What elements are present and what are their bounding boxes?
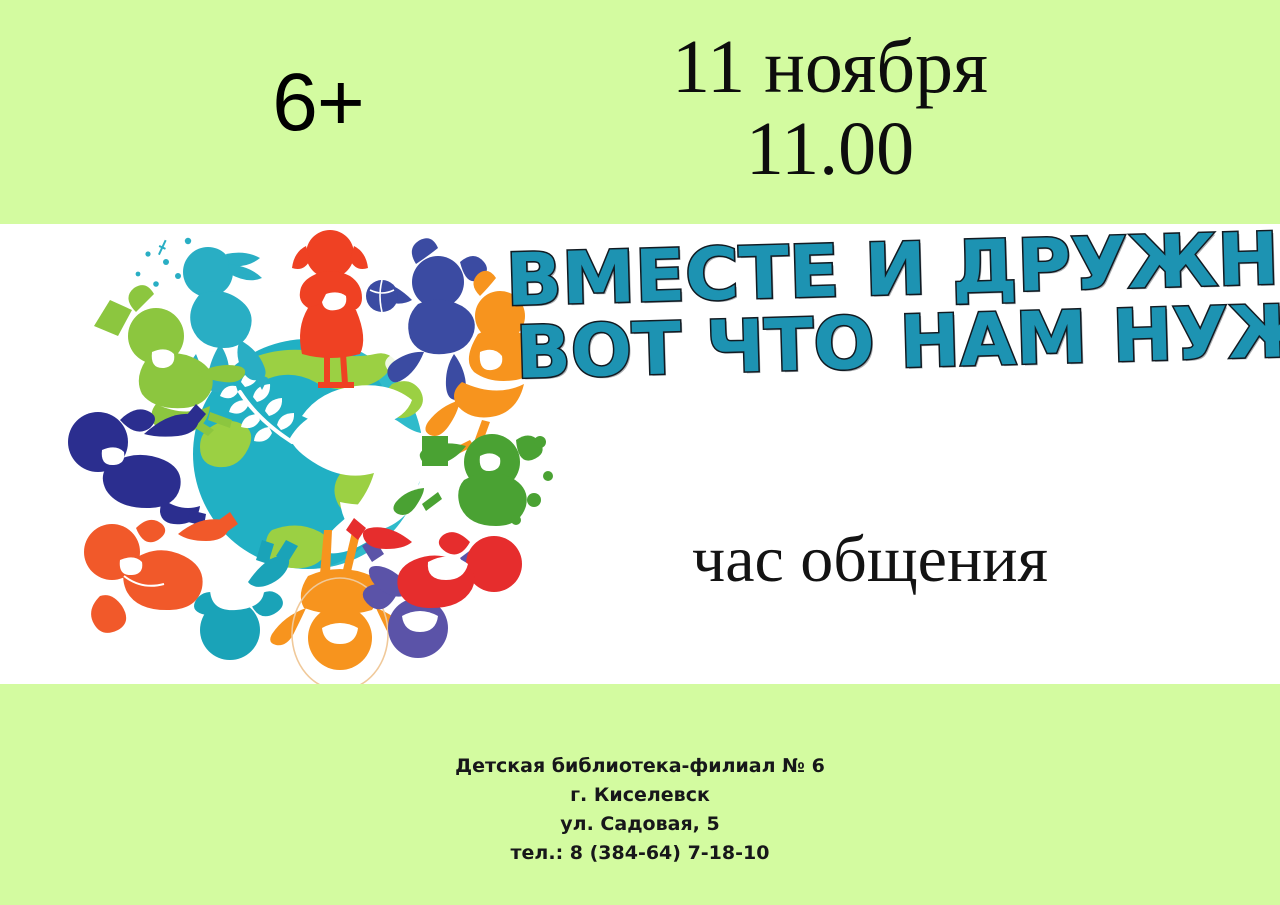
footer-contact-block: Детская библиотека-филиал № 6 г. Киселев… — [340, 752, 940, 868]
event-time: 11.00 — [620, 108, 1040, 190]
footer-city: г. Киселевск — [340, 781, 940, 810]
poster-root: 6+ 11 ноября 11.00 — [0, 0, 1280, 905]
snowflakes-decoration — [136, 238, 192, 287]
footer-phone: тел.: 8 (384-64) 7-18-10 — [340, 839, 940, 868]
age-rating-label: 6+ — [208, 62, 428, 144]
event-subtitle: час общения — [560, 522, 1180, 598]
illustration-globe-children — [40, 224, 560, 684]
main-title: ВМЕСТЕ И ДРУЖНО – ВОТ ЧТО НАМ НУЖНО — [505, 225, 1249, 388]
footer-library-name: Детская библиотека-филиал № 6 — [340, 752, 940, 781]
event-datetime-block: 11 ноября 11.00 — [620, 26, 1040, 190]
footer-street: ул. Садовая, 5 — [340, 810, 940, 839]
child-dark-blue — [68, 404, 206, 526]
main-title-line-2: ВОТ ЧТО НАМ НУЖНО — [515, 298, 1249, 388]
event-date: 11 ноября — [620, 26, 1040, 108]
